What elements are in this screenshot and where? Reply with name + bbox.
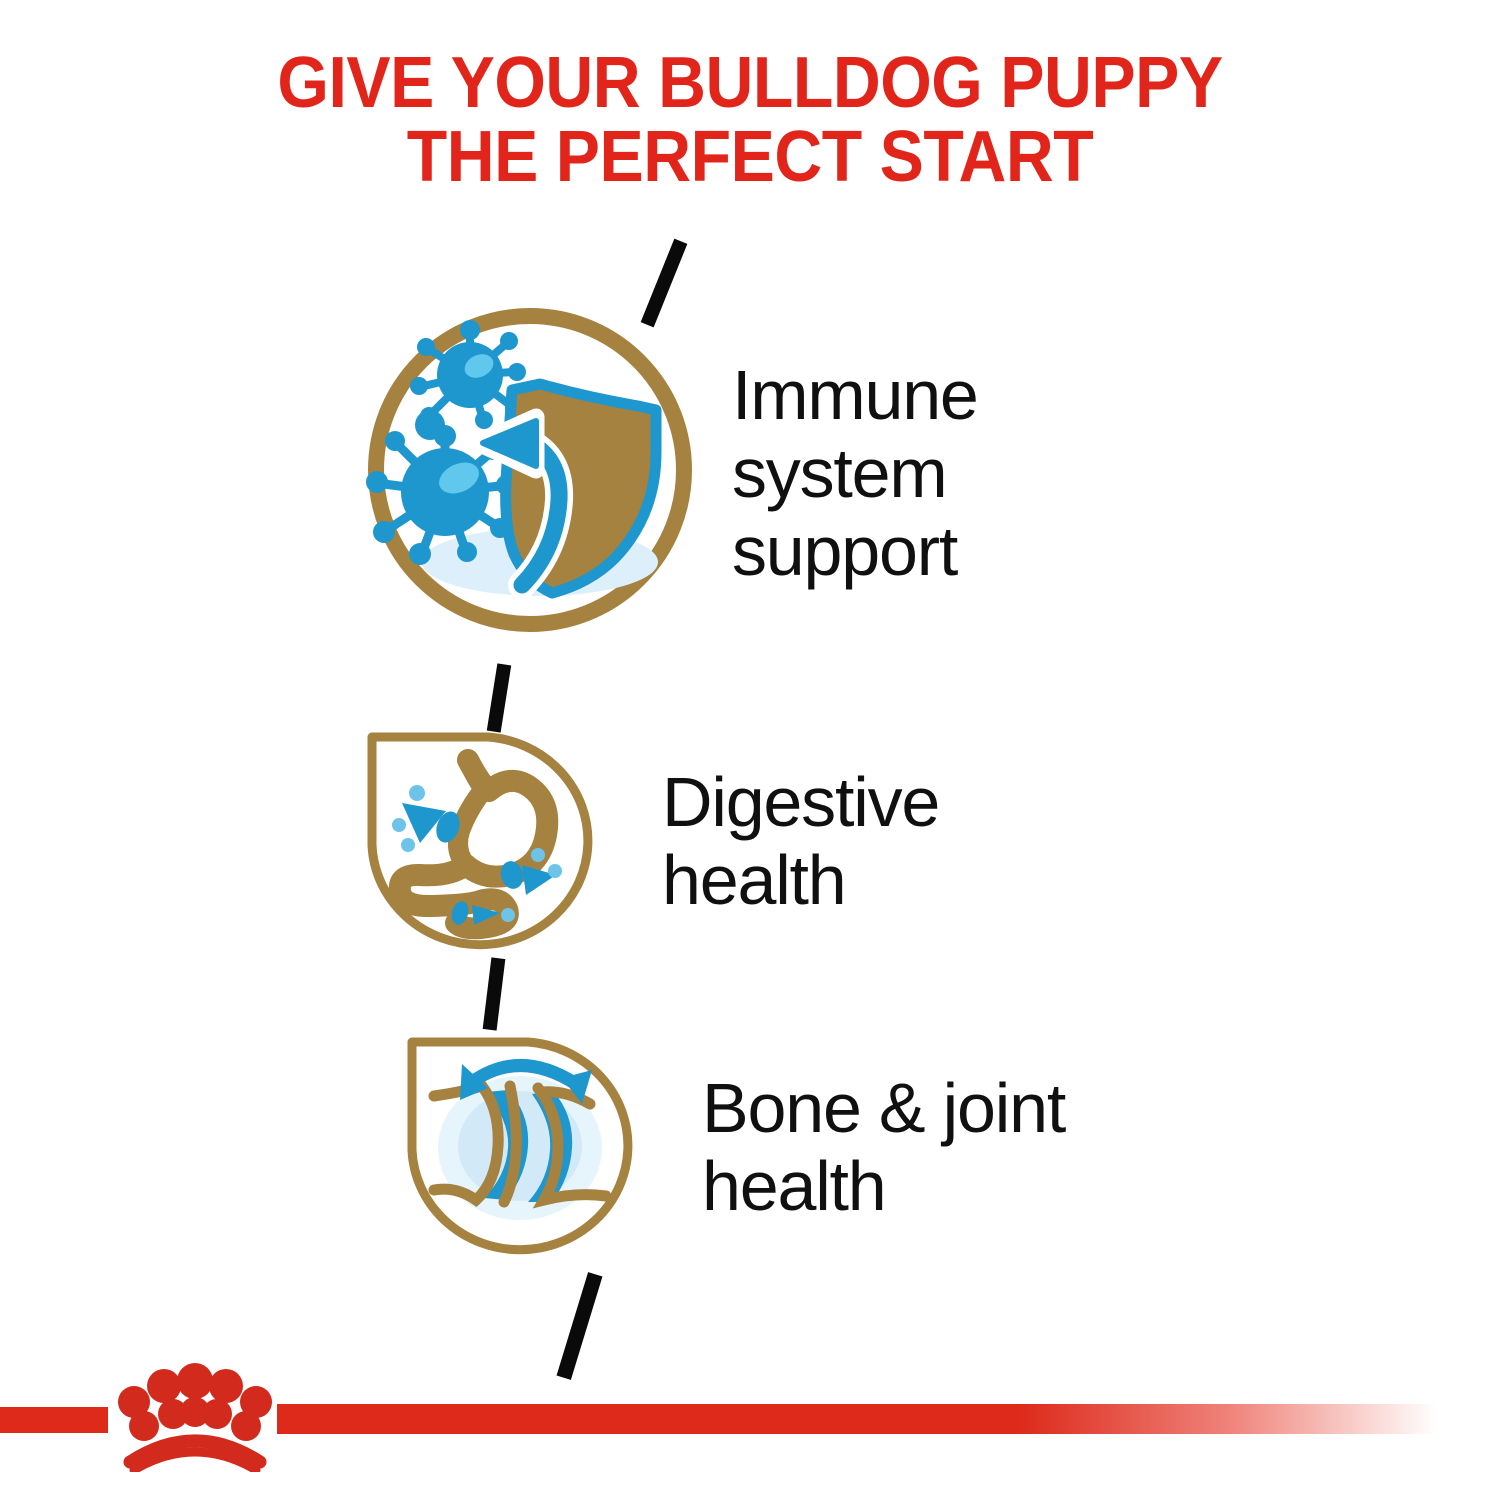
connector-dash-3 <box>483 957 506 1030</box>
feature-label-bone-joint: Bone & joint health <box>702 1069 1065 1225</box>
bone-joint-icon <box>400 1030 640 1260</box>
stomach-intestine-icon <box>360 725 600 955</box>
feature-row-digestive: Digestive health <box>360 725 939 955</box>
royal-canin-crown-logo <box>110 1362 280 1472</box>
feature-row-bone-joint: Bone & joint health <box>400 1030 1065 1260</box>
footer-bar-right-segment <box>277 1404 1437 1434</box>
immune-shield-virus-icon <box>360 300 700 640</box>
feature-row-immune: Immune system support <box>360 300 978 640</box>
connector-dash-4 <box>557 1272 603 1380</box>
promo-panel: GIVE YOUR BULLDOG PUPPY THE PERFECT STAR… <box>0 0 1500 1500</box>
feature-label-immune: Immune system support <box>732 356 978 590</box>
page-title: GIVE YOUR BULLDOG PUPPY THE PERFECT STAR… <box>60 46 1440 194</box>
feature-label-digestive: Digestive health <box>662 763 939 919</box>
footer-bar-left-segment <box>0 1407 108 1433</box>
connector-dash-2 <box>487 663 511 732</box>
